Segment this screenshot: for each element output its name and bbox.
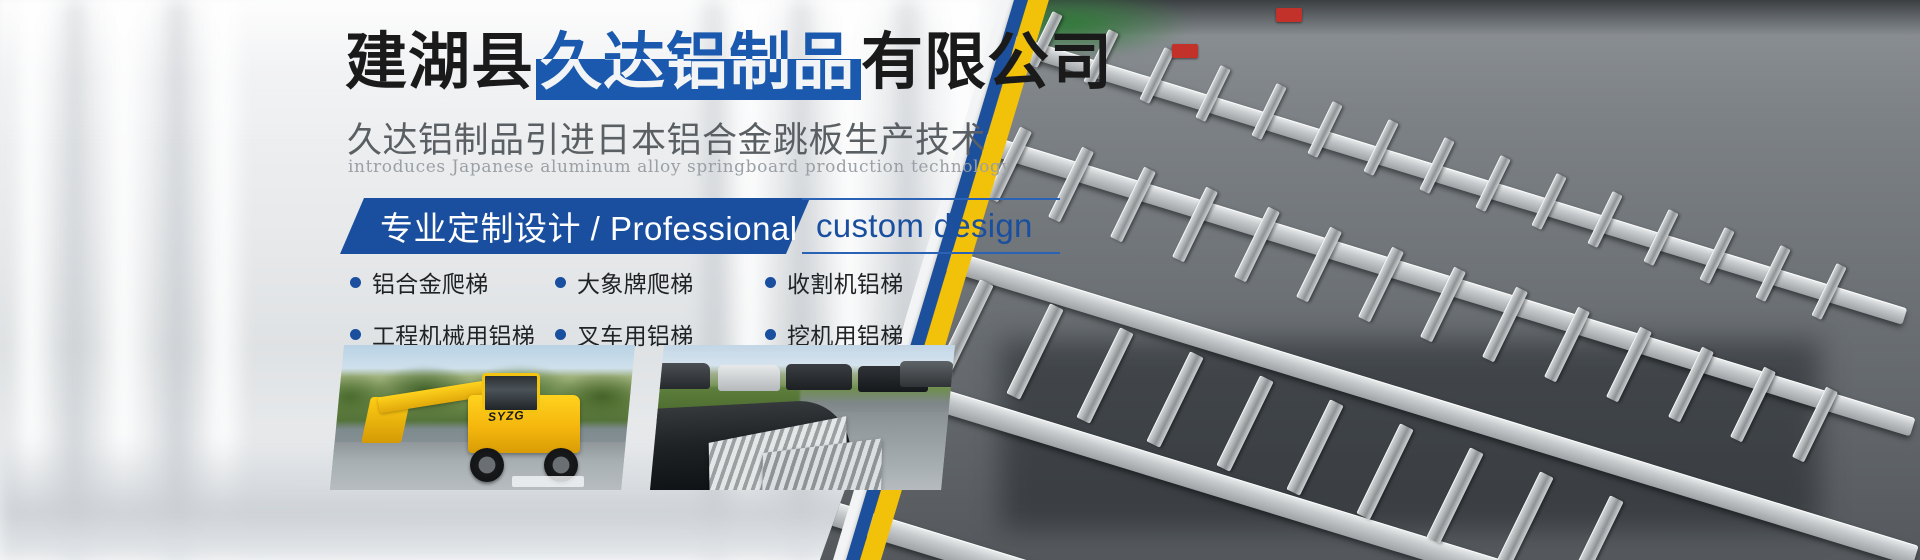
list-item: 收割机铝梯 [765,265,995,299]
bullet-dot-icon [555,277,566,288]
list-item-label: 铝合金爬梯 [372,265,489,299]
title-prefix: 建湖县 [345,32,534,94]
subtitle-english: introduces Japanese aluminum alloy sprin… [348,157,1012,177]
content-column: 建湖县 久达铝制品 久达铝制品 有限公司 久达铝制品引进日本铝合金跳板生产技术 … [0,0,1060,560]
bullet-dot-icon [765,329,776,340]
tagline-primary: 专业定制设计 / Professional [380,198,798,254]
list-item-label: 收割机铝梯 [787,265,904,299]
product-photo-ramps [650,345,955,490]
promo-banner: 建湖县 久达铝制品 久达铝制品 有限公司 久达铝制品引进日本铝合金跳板生产技术 … [0,0,1920,560]
list-item: 大象牌爬梯 [555,265,765,299]
title-suffix: 有限公司 [861,32,1113,94]
tagline-outline-shape: custom design [802,198,1060,254]
list-item: 铝合金爬梯 [350,265,555,299]
tagline-bar: 专业定制设计 / Professional custom design [340,198,1060,254]
tagline-secondary: custom design [816,207,1033,245]
subtitle-chinese: 久达铝制品引进日本铝合金跳板生产技术 [347,112,986,163]
page-title: 建湖县 久达铝制品 久达铝制品 有限公司 [345,32,1113,94]
list-item-label: 大象牌爬梯 [577,265,694,299]
title-highlight-group: 久达铝制品 久达铝制品 [540,32,855,94]
bullet-dot-icon [350,277,361,288]
bullet-dot-icon [350,329,361,340]
product-photo-strip: SYZG [330,345,990,490]
bullet-dot-icon [555,329,566,340]
bullet-dot-icon [765,277,776,288]
loader-brand-mark: SYZG [488,408,525,424]
feature-list: 铝合金爬梯 大象牌爬梯 收割机铝梯 工程机械用铝梯 叉车用铝梯 挖机用铝梯 [350,265,995,351]
product-photo-loader: SYZG [330,345,635,490]
